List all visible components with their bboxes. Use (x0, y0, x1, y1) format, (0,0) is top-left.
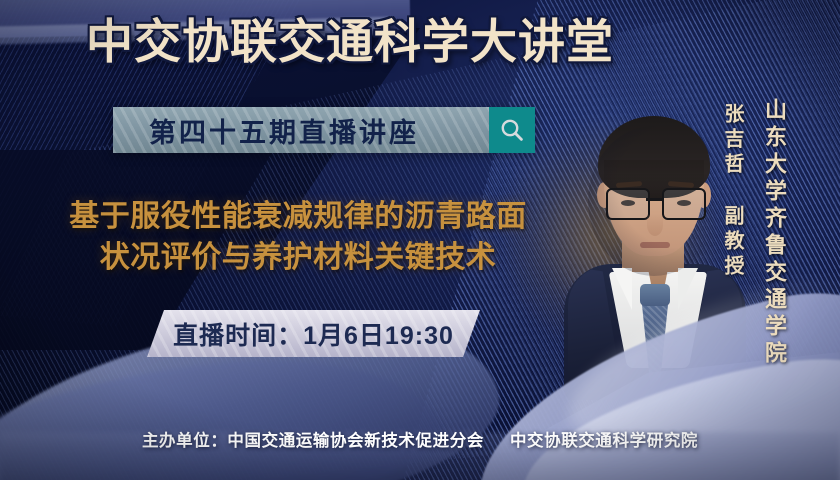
broadcast-time-label: 直播时间：1月6日19:30 (173, 316, 454, 352)
footer-organizer: 主办单位：中国交通运输协会新技术促进分会 (142, 432, 484, 450)
portrait-collar-left (612, 268, 632, 310)
lecture-title-line1: 基于服役性能衰减规律的沥青路面 (69, 200, 527, 233)
page-title: 中交协联交通科学大讲堂 (0, 18, 700, 65)
speaker-name: 张吉哲 副教授 (718, 103, 747, 280)
session-bar-body: 第四十五期直播讲座 (113, 107, 489, 153)
lecture-title-line2: 状况评价与养护材料关键技术 (18, 238, 578, 279)
portrait-shading (588, 126, 720, 276)
portrait-tie-knot (640, 284, 670, 306)
search-icon[interactable] (489, 107, 535, 153)
session-bar[interactable]: 第四十五期直播讲座 (113, 107, 535, 153)
broadcast-time-badge: 直播时间：1月6日19:30 (147, 310, 480, 357)
live-lecture-poster: 中交协联交通科学大讲堂 第四十五期直播讲座 基于服役性能衰减规律的沥青路面 状况… (0, 0, 840, 480)
session-label: 第四十五期直播讲座 (149, 111, 453, 150)
lecture-title: 基于服役性能衰减规律的沥青路面 状况评价与养护材料关键技术 (18, 197, 578, 279)
speaker-organization: 山东大学齐鲁交通学院 (758, 98, 790, 368)
portrait-collar-right (678, 268, 698, 310)
footer-organizers: 主办单位：中国交通运输协会新技术促进分会中交协联交通科学研究院 (0, 427, 840, 451)
footer-institute: 中交协联交通科学研究院 (510, 432, 698, 450)
